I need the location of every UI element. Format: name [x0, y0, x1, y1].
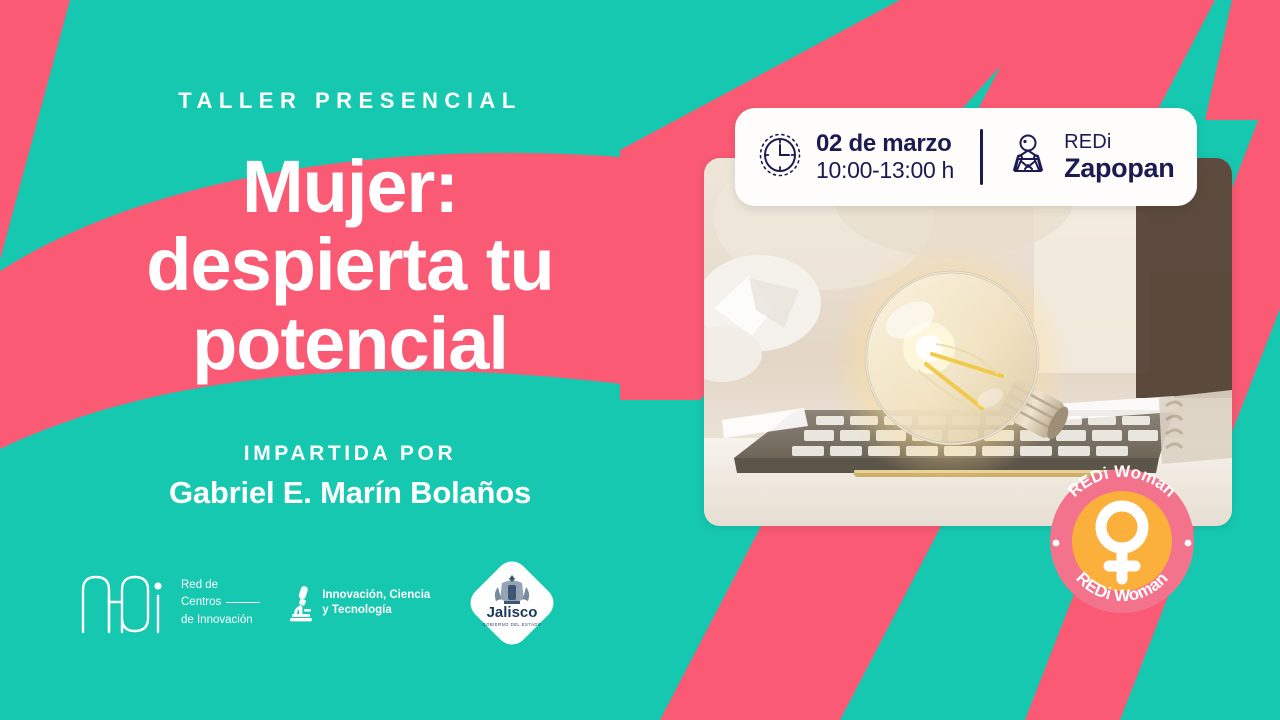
- event-info-badge: 02 de marzo 10:00-13:00 h REDi Zapopan: [735, 108, 1197, 206]
- clock-icon: [757, 132, 803, 183]
- seal-dot-right: [1185, 540, 1192, 547]
- ict-label-line-1: Innovación, Ciencia: [322, 588, 430, 603]
- jalisco-name: Jalisco: [487, 604, 538, 621]
- microscope-icon: [288, 584, 314, 622]
- person-at-map-icon: [1005, 132, 1051, 183]
- redi-tagline-line-2: Centros: [181, 596, 221, 608]
- redi-tagline-line-1: Red de: [181, 577, 260, 594]
- event-date: 02 de marzo: [816, 131, 954, 158]
- event-venue-group: REDi Zapopan: [1005, 131, 1174, 184]
- ict-label: Innovación, Ciencia y Tecnología: [322, 588, 430, 618]
- redi-tagline-rule: [226, 602, 260, 603]
- event-datetime-group: 02 de marzo 10:00-13:00 h: [757, 131, 954, 184]
- jalisco-subtitle: GOBIERNO DEL ESTADO: [483, 622, 543, 627]
- event-venue-text: REDi Zapopan: [1064, 131, 1174, 184]
- redi-logo: Red de Centros de Innovación: [78, 572, 260, 634]
- badge-divider: [980, 129, 983, 185]
- redi-tagline-line-3: de Innovación: [181, 612, 260, 629]
- ict-logo: Innovación, Ciencia y Tecnología: [288, 584, 430, 622]
- event-time: 10:00-13:00 h: [816, 158, 954, 184]
- ict-label-line-2: y Tecnología: [322, 603, 430, 618]
- jalisco-logo: Jalisco GOBIERNO DEL ESTADO: [464, 555, 560, 651]
- venue-brand: REDi: [1064, 131, 1174, 153]
- event-datetime-text: 02 de marzo 10:00-13:00 h: [816, 131, 954, 184]
- redi-logo-icon: [78, 572, 170, 634]
- venue-city: Zapopan: [1064, 153, 1174, 183]
- logo-strip: Red de Centros de Innovación Innovación,…: [78, 548, 638, 658]
- redi-woman-seal: REDi Woman REDi Woman: [1036, 455, 1208, 627]
- redi-tagline: Red de Centros de Innovación: [181, 577, 260, 628]
- seal-dot-left: [1053, 540, 1060, 547]
